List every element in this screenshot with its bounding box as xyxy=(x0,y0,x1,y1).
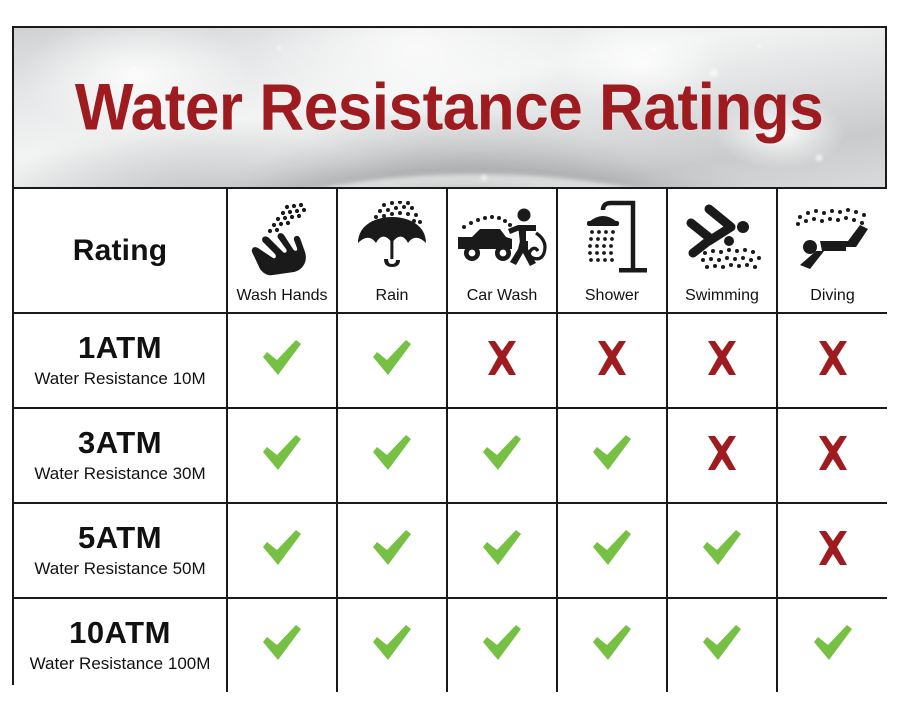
check-icon xyxy=(260,433,304,473)
cross-icon xyxy=(814,434,852,472)
water-resistance-ratings-page: Water Resistance Ratings Rating xyxy=(0,0,900,717)
cell-10atm-wash-hands xyxy=(227,598,337,692)
cell-1atm-rain xyxy=(337,313,447,408)
check-icon xyxy=(700,623,744,663)
swimming-icon xyxy=(668,192,776,287)
check-icon xyxy=(480,528,524,568)
cell-5atm-swimming xyxy=(667,503,777,598)
umbrella-rain-icon xyxy=(338,192,446,287)
header-label-diving: Diving xyxy=(810,287,854,308)
header-column-car-wash: Car Wash xyxy=(447,189,557,313)
check-icon xyxy=(370,528,414,568)
check-icon xyxy=(590,623,634,663)
cell-1atm-diving xyxy=(777,313,887,408)
table-header-row: Rating xyxy=(14,189,887,313)
rating-sub-label: Water Resistance 10M xyxy=(14,369,226,389)
cross-icon xyxy=(814,529,852,567)
cell-5atm-diving xyxy=(777,503,887,598)
header-column-wash-hands: Wash Hands xyxy=(227,189,337,313)
cell-3atm-shower xyxy=(557,408,667,503)
cross-icon xyxy=(593,339,631,377)
cell-5atm-wash-hands xyxy=(227,503,337,598)
rating-atm-label: 3ATM xyxy=(14,427,226,460)
header-label-shower: Shower xyxy=(585,287,639,308)
check-icon xyxy=(590,623,634,663)
check-icon xyxy=(260,338,304,378)
check-icon xyxy=(260,433,304,473)
cell-3atm-car-wash xyxy=(447,408,557,503)
check-icon xyxy=(480,623,524,663)
check-icon xyxy=(590,528,634,568)
rating-atm-label: 1ATM xyxy=(14,332,226,365)
cross-icon xyxy=(814,529,852,567)
check-icon xyxy=(370,623,414,663)
cross-icon xyxy=(483,339,521,377)
page-title-text: Water Resistance Ratings xyxy=(75,68,823,144)
header-column-diving: Diving xyxy=(777,189,887,313)
cell-10atm-car-wash xyxy=(447,598,557,692)
check-icon xyxy=(590,528,634,568)
rating-sub-label: Water Resistance 50M xyxy=(14,559,226,579)
check-icon xyxy=(480,433,524,473)
rating-cell: 1ATM Water Resistance 10M xyxy=(14,313,227,408)
cell-1atm-wash-hands xyxy=(227,313,337,408)
car-wash-icon xyxy=(448,192,556,287)
cell-10atm-diving xyxy=(777,598,887,692)
cross-icon xyxy=(703,339,741,377)
check-icon xyxy=(260,623,304,663)
check-icon xyxy=(480,528,524,568)
banner: Water Resistance Ratings xyxy=(14,28,885,189)
cell-10atm-rain xyxy=(337,598,447,692)
cross-icon xyxy=(814,434,852,472)
cross-icon xyxy=(703,434,741,472)
rating-atm-label: 10ATM xyxy=(14,617,226,650)
header-column-rain: Rain xyxy=(337,189,447,313)
check-icon xyxy=(700,623,744,663)
rating-cell: 3ATM Water Resistance 30M xyxy=(14,408,227,503)
rating-cell: 10ATM Water Resistance 100M xyxy=(14,598,227,692)
check-icon xyxy=(260,528,304,568)
check-icon xyxy=(260,338,304,378)
check-icon xyxy=(370,338,414,378)
header-label-car-wash: Car Wash xyxy=(467,287,538,308)
header-label-wash-hands: Wash Hands xyxy=(237,287,328,308)
cross-icon xyxy=(703,339,741,377)
cross-icon xyxy=(483,339,521,377)
washing-hands-icon xyxy=(228,192,336,287)
table-row: 5ATM Water Resistance 50M xyxy=(14,503,887,598)
table-row: 10ATM Water Resistance 100M xyxy=(14,598,887,692)
cell-3atm-rain xyxy=(337,408,447,503)
header-label-swimming: Swimming xyxy=(685,287,759,308)
table-row: 3ATM Water Resistance 30M xyxy=(14,408,887,503)
cell-1atm-car-wash xyxy=(447,313,557,408)
check-icon xyxy=(480,623,524,663)
page-title: Water Resistance Ratings xyxy=(14,68,885,144)
check-icon xyxy=(811,623,855,663)
cell-10atm-swimming xyxy=(667,598,777,692)
check-icon xyxy=(370,433,414,473)
rating-atm-label: 5ATM xyxy=(14,522,226,555)
cell-1atm-swimming xyxy=(667,313,777,408)
cell-3atm-diving xyxy=(777,408,887,503)
table-row: 1ATM Water Resistance 10M xyxy=(14,313,887,408)
header-column-swimming: Swimming xyxy=(667,189,777,313)
header-column-shower: Shower xyxy=(557,189,667,313)
cell-5atm-shower xyxy=(557,503,667,598)
rating-sub-label: Water Resistance 100M xyxy=(14,654,226,674)
header-rating-cell: Rating xyxy=(14,189,227,313)
check-icon xyxy=(480,433,524,473)
shower-icon xyxy=(558,192,666,287)
cell-3atm-wash-hands xyxy=(227,408,337,503)
cross-icon xyxy=(703,434,741,472)
check-icon xyxy=(260,528,304,568)
header-rating-label: Rating xyxy=(73,234,168,267)
check-icon xyxy=(590,433,634,473)
check-icon xyxy=(370,528,414,568)
header-label-rain: Rain xyxy=(376,287,409,308)
cross-icon xyxy=(814,339,852,377)
rating-cell: 5ATM Water Resistance 50M xyxy=(14,503,227,598)
check-icon xyxy=(260,623,304,663)
check-icon xyxy=(590,433,634,473)
cell-10atm-shower xyxy=(557,598,667,692)
cell-3atm-swimming xyxy=(667,408,777,503)
check-icon xyxy=(700,528,744,568)
check-icon xyxy=(370,338,414,378)
chart-frame: Water Resistance Ratings Rating xyxy=(12,26,887,685)
cross-icon xyxy=(814,339,852,377)
cell-5atm-car-wash xyxy=(447,503,557,598)
check-icon xyxy=(811,623,855,663)
cell-5atm-rain xyxy=(337,503,447,598)
diving-icon xyxy=(778,192,887,287)
ratings-table: Rating xyxy=(14,189,887,692)
rating-sub-label: Water Resistance 30M xyxy=(14,464,226,484)
check-icon xyxy=(370,433,414,473)
check-icon xyxy=(700,528,744,568)
cell-1atm-shower xyxy=(557,313,667,408)
check-icon xyxy=(370,623,414,663)
cross-icon xyxy=(593,339,631,377)
